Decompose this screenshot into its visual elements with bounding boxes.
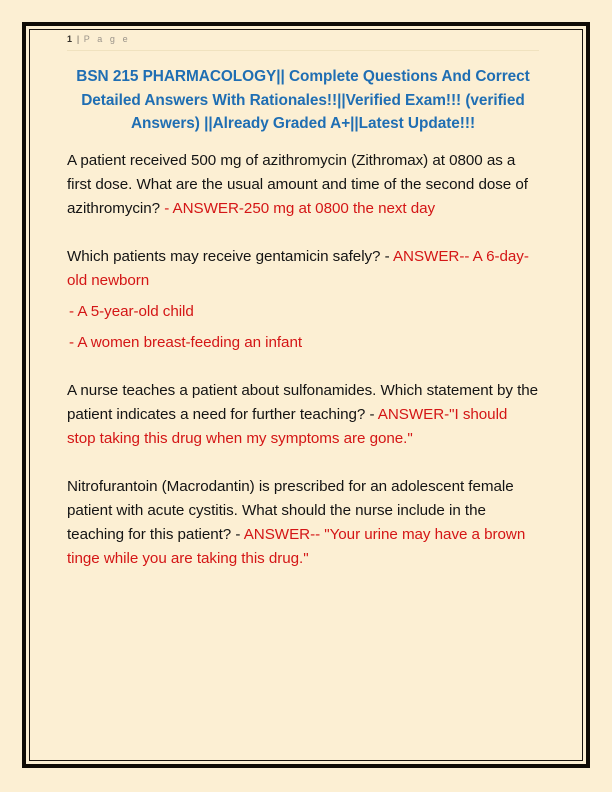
question-text: Which patients may receive gentamicin sa… — [67, 248, 390, 265]
document-title: BSN 215 PHARMACOLOGY|| Complete Question… — [67, 65, 539, 136]
header-divider — [67, 50, 539, 51]
qa-paragraph: A patient received 500 mg of azithromyci… — [67, 149, 539, 221]
qa-block: A patient received 500 mg of azithromyci… — [67, 149, 539, 221]
qa-paragraph: Which patients may receive gentamicin sa… — [67, 245, 539, 293]
page-content: 1 | P a g e BSN 215 PHARMACOLOGY|| Compl… — [67, 30, 539, 595]
qa-paragraph: Nitrofurantoin (Macrodantin) is prescrib… — [67, 475, 539, 571]
header-page-label: P a g e — [84, 34, 131, 44]
qa-block: A nurse teaches a patient about sulfonam… — [67, 379, 539, 451]
running-header: 1 | P a g e — [67, 30, 539, 48]
qa-block: Nitrofurantoin (Macrodantin) is prescrib… — [67, 475, 539, 571]
header-page-number: 1 — [67, 34, 72, 44]
answer-bullet-line: - A 5-year-old child — [67, 300, 539, 324]
qa-block: Which patients may receive gentamicin sa… — [67, 245, 539, 355]
answer-text: - ANSWER-250 mg at 0800 the next day — [160, 200, 435, 217]
answer-bullet-line: - A women breast-feeding an infant — [67, 331, 539, 355]
qa-list: A patient received 500 mg of azithromyci… — [67, 149, 539, 571]
qa-paragraph: A nurse teaches a patient about sulfonam… — [67, 379, 539, 451]
header-separator: | — [77, 34, 79, 44]
document-page: 1 | P a g e BSN 215 PHARMACOLOGY|| Compl… — [0, 0, 612, 792]
